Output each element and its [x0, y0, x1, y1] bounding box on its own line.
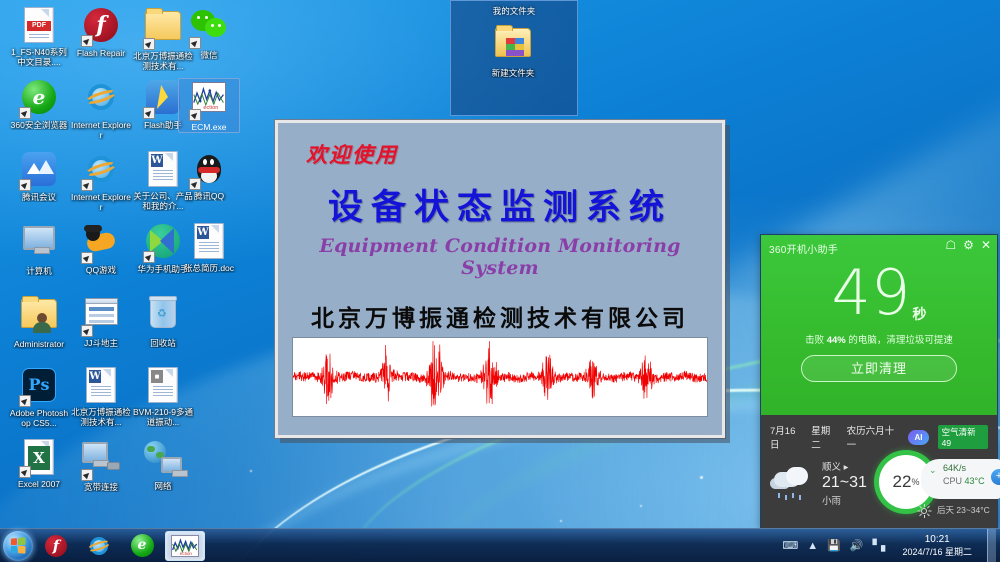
waveform-svg	[293, 338, 707, 416]
browser360-icon: e	[20, 80, 58, 118]
date-text: 7月16日	[770, 423, 802, 451]
shortcut-arrow-icon	[81, 35, 93, 47]
chevron-right-icon: ▸	[844, 462, 849, 473]
window-icon	[82, 298, 120, 336]
pdf-icon: PDF	[20, 7, 58, 45]
360-widget-subtitle: 击败 44% 的电脑，清理垃圾可提速	[769, 332, 989, 346]
taskbar-buttons: feection	[33, 531, 205, 561]
desktop-icon-label: 北京万博振通检测技术有...	[70, 407, 132, 427]
ie-icon	[82, 80, 120, 118]
taskbar-button-flash-player[interactable]: f	[36, 531, 76, 561]
desktop-icon-label: Flash Repair	[70, 48, 132, 58]
internet-explorer-icon	[87, 534, 111, 558]
flash-icon: f	[82, 8, 120, 46]
cpu-temperature: CPU 43°C	[943, 476, 997, 486]
doc2-icon: ■	[144, 367, 182, 405]
desktop-icon-label: JJ斗地主	[70, 338, 132, 348]
keyboard-icon[interactable]: ⌨	[782, 539, 798, 552]
desktop-icon-label: 微信	[178, 50, 240, 60]
desktop-icon-19[interactable]: ♻回收站	[132, 294, 194, 348]
360-browser-icon: e	[131, 534, 154, 557]
folder-icon	[494, 28, 532, 66]
desktop-icon-21[interactable]: W北京万博振通检测技术有...	[70, 366, 132, 427]
desktop-icon-label: Excel 2007	[8, 479, 70, 489]
shortcut-arrow-icon	[19, 395, 31, 407]
excel-icon: X	[20, 439, 58, 477]
weather-status-panel: 7月16日 星期二 农历六月十一 AI 空气清新 49 顺义 ▸ 21~3	[761, 415, 997, 528]
meeting-icon	[20, 152, 58, 190]
desktop-icon-25[interactable]: 网络	[132, 438, 194, 491]
word-icon: W	[190, 223, 228, 261]
clock-date: 2024/7/16 星期二	[902, 546, 972, 558]
taskbar[interactable]: feection ⌨ ▲ 💾 🔊 ▘▖ 10:21 2024/7/16 星期二	[0, 528, 1000, 562]
shortcut-arrow-icon	[81, 325, 93, 337]
flash-player-icon: f	[45, 535, 67, 557]
close-icon[interactable]: ✕	[981, 239, 991, 252]
city-name: 顺义	[822, 462, 841, 473]
desktop-icon-new-folder[interactable]: 新建文件夹	[482, 28, 544, 78]
ecm-app-icon: ection	[171, 535, 199, 557]
show-desktop-button[interactable]	[987, 529, 996, 562]
folder-icon	[144, 11, 182, 49]
desktop-icon-5[interactable]: e360安全浏览器	[8, 78, 70, 130]
app-title-english: Equipment Condition Monitoring System	[292, 235, 708, 279]
computer-icon	[20, 226, 58, 264]
desktop-icon-label: 计算机	[8, 266, 70, 276]
desktop-icon-label: 腾讯会议	[8, 192, 70, 202]
360-widget-actions: ☖ ⚙ ✕	[945, 239, 991, 252]
qqgame-icon	[82, 225, 120, 263]
desktop-icon-22[interactable]: ■BVM-210-9多通道振动...	[132, 366, 194, 427]
desktop-icon-label: Administrator	[8, 339, 70, 349]
boot-seconds-value: 49	[832, 256, 911, 329]
desktop-icon-8[interactable]: ectionECM.exe	[178, 78, 240, 133]
desktop-icon-2[interactable]: fFlash Repair	[70, 6, 132, 58]
network-icon[interactable]: ▘▖	[873, 539, 890, 552]
desktop-icon-label: QQ游戏	[70, 265, 132, 275]
word-icon: W	[82, 367, 120, 405]
air-quality-badge: 空气清新 49	[938, 425, 988, 449]
userfolder-icon	[20, 299, 58, 337]
shortcut-arrow-icon	[19, 179, 31, 191]
desktop-icon-16[interactable]: W张总简历.doc	[178, 222, 240, 273]
desktop-icon-label: 360安全浏览器	[8, 120, 70, 130]
desktop-icon-17[interactable]: Administrator	[8, 294, 70, 349]
clean-now-button[interactable]: 立即清理	[801, 355, 957, 382]
360-widget-header-panel: 360开机小助手 ☖ ⚙ ✕ 49秒 击败 44% 的电脑，清理垃圾可提速 立即…	[761, 235, 997, 415]
taskbar-button-ecm-app[interactable]: ection	[165, 531, 205, 561]
safely-remove-hardware-icon[interactable]: 💾	[827, 539, 841, 552]
wallpaper-sparkle	[250, 470, 252, 472]
boot-time-display: 49秒	[769, 262, 989, 324]
desktop-icon-label: Internet Explorer	[70, 120, 132, 140]
ecm-icon: ection	[190, 82, 228, 120]
desktop-icon-9[interactable]: 腾讯会议	[8, 150, 70, 202]
recycle-icon: ♻	[144, 298, 182, 336]
selected-folder-region[interactable]: 我的文件夹 新建文件夹	[450, 0, 578, 116]
ai-badge[interactable]: AI	[908, 430, 928, 445]
system-tray: ⌨ ▲ 💾 🔊 ▘▖ 10:21 2024/7/16 星期二	[782, 529, 1000, 562]
ie-icon	[82, 152, 120, 190]
vibration-waveform-chart	[292, 337, 708, 417]
cpu-usage-value: 22	[893, 472, 912, 492]
desktop-icon-label: 宽带连接	[70, 482, 132, 492]
rain-cloud-icon	[770, 466, 816, 500]
company-name-chinese: 北京万博振通检测技术有限公司	[292, 299, 708, 333]
desktop-icon-20[interactable]: PsAdobe Photoshop CS5...	[8, 366, 70, 428]
word-icon: W	[144, 151, 182, 189]
start-button[interactable]	[3, 531, 33, 561]
forecast-tomorrow: 后天 23~34°C	[937, 504, 990, 516]
shortcut-arrow-icon	[19, 107, 31, 119]
pin-icon[interactable]: ☖	[945, 239, 956, 252]
shortcut-arrow-icon	[143, 251, 155, 263]
huawei-icon	[144, 224, 182, 262]
selected-region-caption: 我的文件夹	[451, 5, 577, 17]
wallpaper-sparkle	[700, 476, 703, 479]
windows-logo-icon	[11, 537, 26, 554]
shortcut-arrow-icon	[189, 37, 201, 49]
shortcut-arrow-icon	[81, 252, 93, 264]
desktop-icon-6[interactable]: Internet Explorer	[70, 78, 132, 140]
shortcut-arrow-icon	[189, 109, 201, 121]
network-icon	[144, 441, 182, 479]
desktop-icon-1[interactable]: PDF1_FS-N40系列中文目录....	[8, 6, 70, 67]
desktop-icon-label: 腾讯QQ	[178, 191, 240, 201]
splash-window[interactable]: 欢迎使用 设备状态监测系统 Equipment Condition Monito…	[275, 120, 725, 438]
chevron-down-icon: ⌄	[929, 465, 937, 476]
date-row: 7月16日 星期二 农历六月十一 AI 空气清新 49	[770, 423, 988, 451]
broadband-icon	[82, 442, 120, 480]
wechat-icon	[190, 10, 228, 48]
subtitle-percent: 44%	[827, 335, 846, 346]
ps-icon: Ps	[20, 368, 58, 406]
weather-text: 顺义 ▸ 21~31 小雨	[822, 459, 867, 507]
flashhelper-icon	[144, 80, 182, 118]
gear-icon[interactable]: ⚙	[963, 239, 974, 252]
boot-seconds-unit: 秒	[912, 306, 926, 322]
clock-time: 10:21	[902, 534, 972, 546]
desktop-icon-label: 张总简历.doc	[178, 263, 240, 273]
desktop-icon-label: 新建文件夹	[482, 68, 544, 78]
desktop-icon-label: Adobe Photoshop CS5...	[8, 408, 70, 428]
subtitle-suffix: 的电脑，清理垃圾可提速	[846, 335, 953, 346]
360-boot-assistant-widget[interactable]: 360开机小助手 ☖ ⚙ ✕ 49秒 击败 44% 的电脑，清理垃圾可提速 立即…	[760, 234, 998, 528]
desktop-icon-10[interactable]: Internet Explorer	[70, 150, 132, 212]
desktop-icon-24[interactable]: 宽带连接	[70, 438, 132, 492]
desktop-icon-label: Internet Explorer	[70, 192, 132, 212]
cpu-temp-value: 43°C	[965, 476, 985, 486]
shortcut-arrow-icon	[189, 178, 201, 190]
taskbar-button-360-browser[interactable]: e	[122, 531, 162, 561]
volume-icon[interactable]: 🔊	[850, 539, 864, 552]
desktop-icon-14[interactable]: QQ游戏	[70, 222, 132, 275]
shortcut-arrow-icon	[143, 38, 155, 50]
desktop-icon-label: 1_FS-N40系列中文目录....	[8, 47, 70, 67]
svg-text:ection: ection	[180, 551, 193, 556]
shortcut-arrow-icon	[19, 466, 31, 478]
desktop-icon-label: ECM.exe	[179, 122, 239, 132]
desktop-icon-label: 网络	[132, 481, 194, 491]
desktop[interactable]: PDF1_FS-N40系列中文目录....fFlash Repair北京万博振通…	[0, 0, 1000, 562]
qq-icon	[190, 151, 228, 189]
shortcut-arrow-icon	[143, 107, 155, 119]
desktop-icon-13[interactable]: 计算机	[8, 222, 70, 276]
taskbar-button-internet-explorer[interactable]	[79, 531, 119, 561]
add-widget-button[interactable]: +	[991, 469, 1000, 485]
shortcut-arrow-icon	[81, 469, 93, 481]
temperature-range: 21~31	[822, 474, 867, 492]
desktop-icon-label: 回收站	[132, 338, 194, 348]
desktop-icon-12[interactable]: 腾讯QQ	[178, 150, 240, 201]
clock[interactable]: 10:21 2024/7/16 星期二	[898, 534, 978, 558]
wallpaper-sparkle	[560, 520, 562, 522]
show-hidden-icons-icon[interactable]: ▲	[807, 540, 818, 552]
weather-condition: 小雨	[822, 493, 867, 507]
desktop-icon-4[interactable]: 微信	[178, 6, 240, 60]
weather-city[interactable]: 顺义 ▸	[822, 459, 867, 473]
network-speed: 64K/s	[943, 463, 997, 473]
wallpaper-sparkle	[640, 505, 642, 507]
cpu-temp-label: CPU	[943, 476, 962, 486]
cpu-usage-unit: %	[911, 477, 919, 487]
system-stats-card[interactable]: ⌄ 64K/s CPU 43°C +	[921, 459, 1000, 499]
subtitle-prefix: 击败	[805, 335, 827, 346]
weekday-text: 星期二	[811, 423, 837, 451]
desktop-icon-23[interactable]: XExcel 2007	[8, 438, 70, 489]
app-title-chinese: 设备状态监测系统	[292, 179, 708, 230]
desktop-icon-18[interactable]: JJ斗地主	[70, 294, 132, 348]
lunar-date-text: 农历六月十一	[847, 423, 900, 451]
shortcut-arrow-icon	[81, 179, 93, 191]
sun-icon	[917, 504, 931, 518]
welcome-text: 欢迎使用	[306, 139, 708, 169]
svg-text:ection: ection	[203, 105, 218, 111]
desktop-icon-label: BVM-210-9多通道振动...	[132, 407, 194, 427]
